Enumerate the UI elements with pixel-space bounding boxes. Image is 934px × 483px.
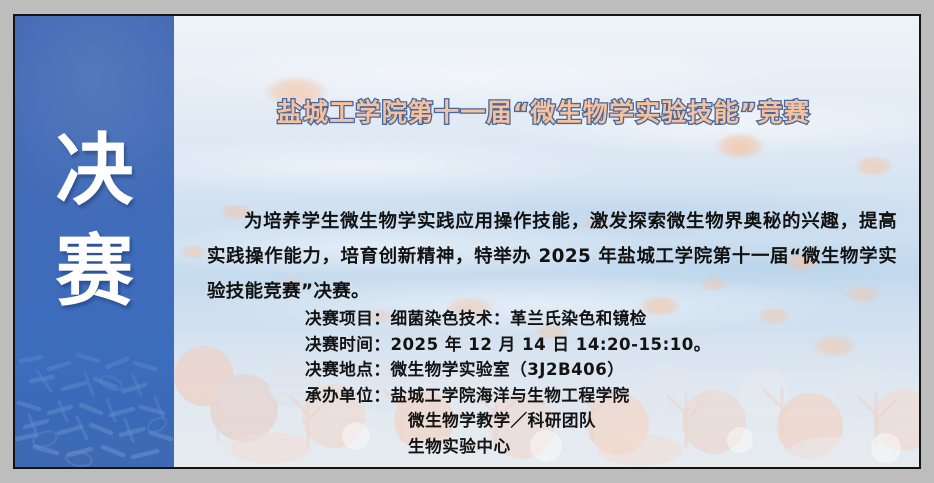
poster-main-panel: 盐城工学院第十一届“微生物学实验技能”竞赛 为培养学生微生物学实践应用操作技能，… bbox=[174, 16, 919, 467]
detail-label: 决赛时间： bbox=[305, 335, 390, 354]
side-band: 决 赛 bbox=[15, 16, 174, 467]
detail-value: 2025 年 12 月 14 日 14:20-15:10。 bbox=[390, 335, 710, 354]
detail-row: 决赛地点：微生物学实验室（3J2B406） bbox=[305, 357, 711, 383]
bacteria-texture-icon bbox=[15, 317, 174, 467]
detail-value: 盐城工学院海洋与生物工程学院 bbox=[390, 386, 629, 405]
detail-row: 生物实验中心 bbox=[305, 434, 711, 460]
detail-row: 决赛时间：2025 年 12 月 14 日 14:20-15:10。 bbox=[305, 332, 711, 358]
detail-label: 决赛地点： bbox=[305, 360, 390, 379]
poster-body: 决 赛 bbox=[15, 16, 919, 467]
detail-label: 决赛项目： bbox=[305, 309, 390, 328]
detail-value: 生物实验中心 bbox=[408, 437, 511, 456]
side-band-characters: 决 赛 bbox=[15, 134, 174, 310]
detail-value: 细菌染色技术：革兰氏染色和镜检 bbox=[390, 309, 646, 328]
detail-row: 微生物学教学／科研团队 bbox=[305, 408, 711, 434]
intro-paragraph: 为培养学生微生物学实践应用操作技能，激发探索微生物界奥秘的兴趣，提高实践操作能力… bbox=[207, 204, 897, 309]
side-band-char-2: 赛 bbox=[55, 235, 133, 310]
detail-label: 承办单位： bbox=[305, 386, 390, 405]
detail-value: 微生物学实验室（3J2B406） bbox=[390, 360, 624, 379]
side-band-char-1: 决 bbox=[55, 134, 133, 209]
detail-value: 微生物学教学／科研团队 bbox=[408, 411, 596, 430]
poster-frame: 决 赛 bbox=[13, 14, 921, 469]
detail-list: 决赛项目：细菌染色技术：革兰氏染色和镜检决赛时间：2025 年 12 月 14 … bbox=[305, 306, 711, 460]
poster-title: 盐城工学院第十一届“微生物学实验技能”竞赛 bbox=[174, 93, 913, 129]
detail-row: 承办单位：盐城工学院海洋与生物工程学院 bbox=[305, 383, 711, 409]
poster-content: 盐城工学院第十一届“微生物学实验技能”竞赛 为培养学生微生物学实践应用操作技能，… bbox=[174, 16, 919, 467]
detail-row: 决赛项目：细菌染色技术：革兰氏染色和镜检 bbox=[305, 306, 711, 332]
